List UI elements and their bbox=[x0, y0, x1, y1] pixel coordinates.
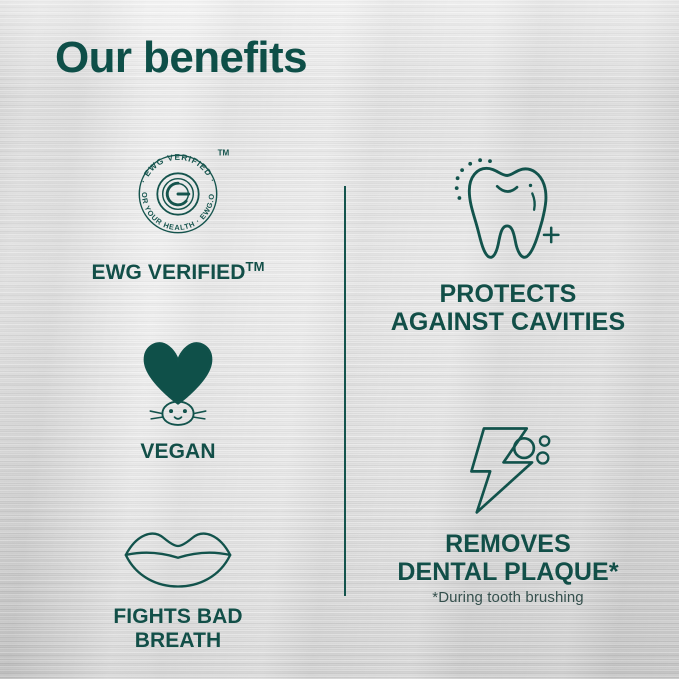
column-divider bbox=[344, 186, 346, 596]
benefit-label: REMOVES DENTAL PLAQUE* bbox=[397, 530, 618, 586]
sparkling-tooth-icon bbox=[445, 148, 571, 266]
lightning-bolt-bubbles-icon bbox=[450, 414, 566, 518]
benefits-poster: Our benefits · EWG VERIFI bbox=[0, 0, 679, 679]
ewg-verified-seal-icon: · EWG VERIFIED · · FOR YOUR HEALTH · EWG… bbox=[124, 140, 232, 248]
benefits-column-left: · EWG VERIFIED · · FOR YOUR HEALTH · EWG… bbox=[18, 140, 338, 652]
benefit-ewg-verified: · EWG VERIFIED · · FOR YOUR HEALTH · EWG… bbox=[18, 140, 338, 285]
svg-text:· EWG VERIFIED ·: · EWG VERIFIED · bbox=[139, 153, 217, 185]
bunny-heart-ears-icon bbox=[126, 327, 230, 431]
page-title: Our benefits bbox=[55, 35, 307, 81]
benefit-label: EWG VERIFIEDTM bbox=[91, 260, 264, 285]
benefit-label: FIGHTS BAD BREATH bbox=[113, 605, 242, 652]
benefit-label: PROTECTS AGAINST CAVITIES bbox=[391, 280, 626, 336]
trademark-symbol: TM bbox=[246, 259, 265, 274]
lips-icon bbox=[115, 518, 241, 592]
benefit-fights-bad-breath: FIGHTS BAD BREATH bbox=[18, 518, 338, 652]
benefit-protects-against-cavities: PROTECTS AGAINST CAVITIES bbox=[348, 148, 668, 336]
benefit-footnote: *During tooth brushing bbox=[432, 589, 583, 606]
benefit-label: VEGAN bbox=[140, 440, 215, 464]
benefits-column-right: PROTECTS AGAINST CAVITIES REMOVES DENTAL… bbox=[348, 148, 668, 606]
svg-text:TM: TM bbox=[218, 148, 230, 157]
benefit-vegan: VEGAN bbox=[18, 327, 338, 464]
benefit-removes-dental-plaque: REMOVES DENTAL PLAQUE* *During tooth bru… bbox=[348, 414, 668, 606]
benefit-label-text: EWG VERIFIED bbox=[91, 261, 245, 284]
